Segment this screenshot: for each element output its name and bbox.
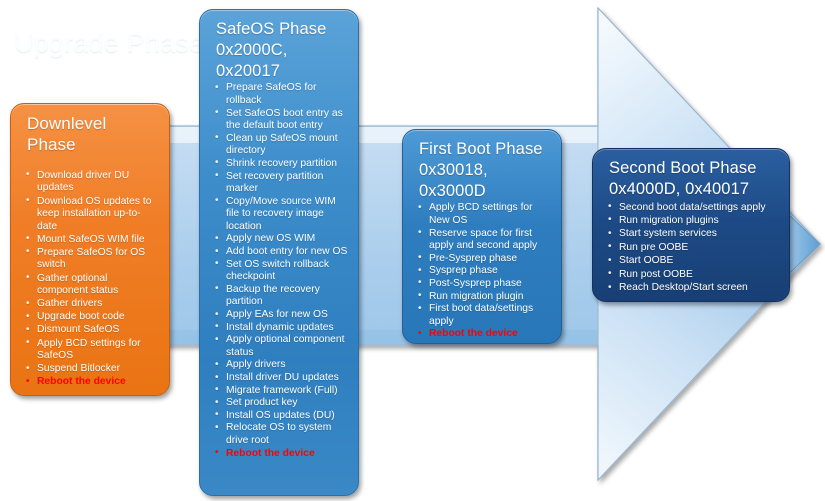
list-item: Pre-Sysprep phase [415, 253, 551, 266]
list-item: Download driver DU updates [23, 170, 159, 195]
phase-title-firstboot: First Boot Phase 0x30018, 0x3000D [415, 139, 551, 201]
phase-title-safeos: SafeOS Phase 0x2000C, 0x20017 [212, 19, 348, 81]
list-item: First boot data/settings apply [415, 303, 551, 328]
list-item: Run migration plugin [415, 291, 551, 304]
list-item: Apply BCD settings for SafeOS [23, 338, 159, 363]
list-item: Reach Desktop/Start screen [605, 281, 779, 294]
phase-event-codes: 0x4000D, 0x40017 [609, 179, 779, 200]
list-item: Post-Sysprep phase [415, 278, 551, 291]
phase-step-list-safeos: Prepare SafeOS for rollback Set SafeOS b… [212, 82, 348, 460]
list-item: Install driver DU updates [212, 372, 348, 385]
list-item: Apply EAs for new OS [212, 309, 348, 322]
phase-step-list-downlevel: Download driver DU updates Download OS u… [23, 170, 159, 389]
list-item: Migrate framework (Full) [212, 385, 348, 398]
phase-step-list-firstboot: Apply BCD settings for New OS Reserve sp… [415, 202, 551, 341]
phase-title-downlevel: Downlevel Phase [23, 113, 159, 156]
list-item: Shrink recovery partition [212, 158, 348, 171]
list-item: Prepare SafeOS for rollback [212, 82, 348, 107]
list-item: Gather drivers [23, 298, 159, 311]
list-item: Copy/Move source WIM file to recovery im… [212, 196, 348, 234]
list-item: Download OS updates to keep installation… [23, 196, 159, 234]
phase-title-text: Second Boot Phase [609, 158, 779, 179]
list-item: Reserve space for first apply and second… [415, 228, 551, 253]
list-item: Install OS updates (DU) [212, 410, 348, 423]
list-item: Install dynamic updates [212, 322, 348, 335]
phase-box-safeos[interactable]: SafeOS Phase 0x2000C, 0x20017 Prepare Sa… [199, 9, 359, 496]
list-item: Suspend Bitlocker [23, 363, 159, 376]
list-item: Mount SafeOS WIM file [23, 234, 159, 247]
list-item: Dismount SafeOS [23, 324, 159, 337]
list-item-reboot: Reboot the device [415, 328, 551, 341]
phase-box-firstboot[interactable]: First Boot Phase 0x30018, 0x3000D Apply … [402, 129, 562, 344]
list-item: Apply BCD settings for New OS [415, 202, 551, 227]
list-item: Set OS switch rollback checkpoint [212, 259, 348, 284]
phase-title-text: SafeOS Phase [216, 19, 348, 40]
phase-title-text: Downlevel Phase [27, 114, 106, 154]
list-item: Apply new OS WIM [212, 233, 348, 246]
list-item: Clean up SafeOS mount directory [212, 133, 348, 158]
phase-title-text: First Boot Phase [419, 139, 551, 160]
phase-step-list-secondboot: Second boot data/settings apply Run migr… [605, 201, 779, 295]
diagram-canvas: Upgrade Phases [0, 0, 825, 501]
list-item: Run post OOBE [605, 268, 779, 281]
list-item: Apply optional component status [212, 334, 348, 359]
list-item-reboot: Reboot the device [212, 448, 348, 461]
list-item-reboot: Reboot the device [23, 376, 159, 389]
list-item: Apply drivers [212, 359, 348, 372]
list-item: Add boot entry for new OS [212, 246, 348, 259]
list-item: Sysprep phase [415, 265, 551, 278]
list-item: Set recovery partition marker [212, 171, 348, 196]
list-item: Run pre OOBE [605, 241, 779, 254]
phase-title-secondboot: Second Boot Phase 0x4000D, 0x40017 [605, 158, 779, 200]
phase-box-downlevel[interactable]: Downlevel Phase Download driver DU updat… [10, 103, 170, 396]
list-item: Prepare SafeOS for OS switch [23, 247, 159, 272]
phase-event-codes: 0x30018, 0x3000D [419, 160, 551, 202]
list-item: Relocate OS to system drive root [212, 422, 348, 447]
list-item: Set SafeOS boot entry as the default boo… [212, 108, 348, 133]
phase-box-secondboot[interactable]: Second Boot Phase 0x4000D, 0x40017 Secon… [592, 148, 790, 302]
list-item: Second boot data/settings apply [605, 201, 779, 214]
phase-event-codes: 0x2000C, 0x20017 [216, 40, 348, 82]
list-item: Start OOBE [605, 254, 779, 267]
list-item: Backup the recovery partition [212, 284, 348, 309]
list-item: Start system services [605, 227, 779, 240]
list-item: Upgrade boot code [23, 311, 159, 324]
list-item: Set product key [212, 397, 348, 410]
list-item: Run migration plugins [605, 214, 779, 227]
list-item: Gather optional component status [23, 273, 159, 298]
